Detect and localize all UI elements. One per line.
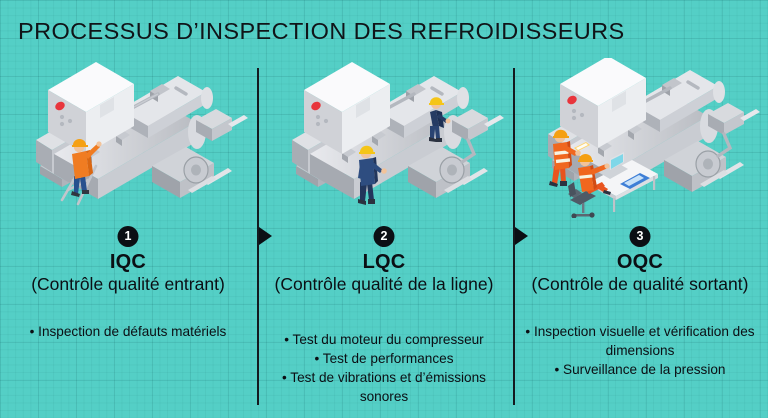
step-code-3: OQC xyxy=(512,251,768,274)
step-code-2: LQC xyxy=(256,251,512,274)
bullet-item: • Inspection visuelle et vérification de… xyxy=(522,322,758,360)
arrow-step1-to-step2-icon xyxy=(259,227,272,245)
step-column-2: 2 LQC (Contrôle qualité de la ligne) • T… xyxy=(256,0,512,418)
step-subtitle-2: (Contrôle qualité de la ligne) xyxy=(256,274,512,295)
bullet-item: • Test de performances xyxy=(266,349,502,368)
step-bullets-3: • Inspection visuelle et vérification de… xyxy=(512,322,768,379)
bullet-item: • Inspection de défauts matériels xyxy=(14,322,242,341)
step-column-3: 3 OQC (Contrôle de qualité sortant) • In… xyxy=(512,0,768,418)
step-column-1: 1 IQC (Contrôle qualité entrant) • Inspe… xyxy=(0,0,256,418)
step-subtitle-3: (Contrôle de qualité sortant) xyxy=(512,274,768,295)
bullet-item: • Surveillance de la pression xyxy=(522,360,758,379)
illustration-step-3 xyxy=(512,58,768,218)
step-badge-2: 2 xyxy=(374,226,395,247)
step-badge-1: 1 xyxy=(118,226,139,247)
step-badge-3: 3 xyxy=(630,226,651,247)
step-bullets-2: • Test du moteur du compresseur • Test d… xyxy=(256,330,512,406)
bullet-item: • Test du moteur du compresseur xyxy=(266,330,502,349)
illustration-step-1 xyxy=(0,58,256,218)
arrow-step2-to-step3-icon xyxy=(515,227,528,245)
bullet-item: • Test de vibrations et d’émissions sono… xyxy=(266,368,502,406)
step-subtitle-1: (Contrôle qualité entrant) xyxy=(0,274,256,295)
infographic-canvas: PROCESSUS D’INSPECTION DES REFROIDISSEUR… xyxy=(0,0,768,418)
step-bullets-1: • Inspection de défauts matériels xyxy=(0,322,256,341)
illustration-step-2 xyxy=(256,58,512,218)
step-code-1: IQC xyxy=(0,251,256,274)
